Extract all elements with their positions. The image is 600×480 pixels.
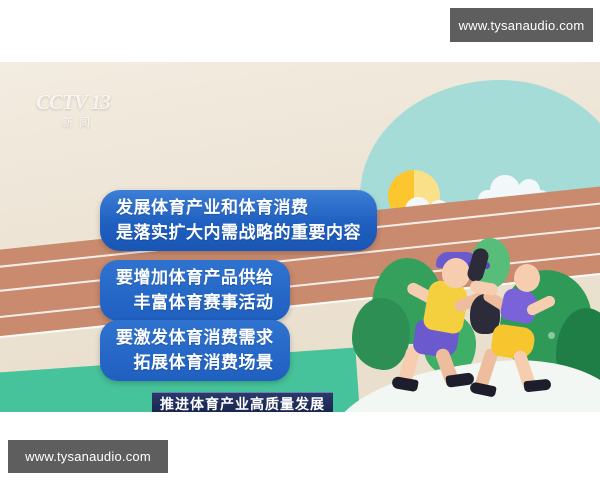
caption-banner-2-line1: 要增加体育产品供给 bbox=[116, 268, 274, 287]
caption-banner-1-line2: 是落实扩大内需战略的重要内容 bbox=[116, 220, 361, 245]
caption-banner-2-line2: 丰富体育赛事活动 bbox=[116, 290, 274, 315]
video-bottom-edge bbox=[0, 412, 600, 414]
channel-logo-main: CCTV 13 bbox=[36, 90, 110, 115]
caption-banner-3-line2: 拓展体育消费场景 bbox=[116, 350, 274, 375]
caption-banner-3-line1: 要激发体育消费需求 bbox=[116, 328, 274, 347]
watermark-top: www.tysanaudio.com bbox=[450, 8, 593, 42]
channel-logo-cctv13: CCTV 13 新闻 bbox=[36, 90, 110, 130]
watermark-bottom: www.tysanaudio.com bbox=[8, 440, 168, 473]
caption-banner-2: 要增加体育产品供给 丰富体育赛事活动 bbox=[100, 260, 290, 321]
female-runner bbox=[470, 248, 590, 398]
caption-banner-1: 发展体育产业和体育消费 是落实扩大内需战略的重要内容 bbox=[100, 190, 377, 251]
lower-third-kicker: 推进体育产业高质量发展 bbox=[152, 392, 333, 412]
caption-banner-3: 要激发体育消费需求 拓展体育消费场景 bbox=[100, 320, 290, 381]
video-frame: CCTV 13 新闻 发展体育产业和体育消费 是落实扩大内需战略的重要内容 要增… bbox=[0, 62, 600, 412]
channel-logo-sub: 新闻 bbox=[48, 114, 110, 130]
caption-banner-1-line1: 发展体育产业和体育消费 bbox=[116, 195, 361, 220]
